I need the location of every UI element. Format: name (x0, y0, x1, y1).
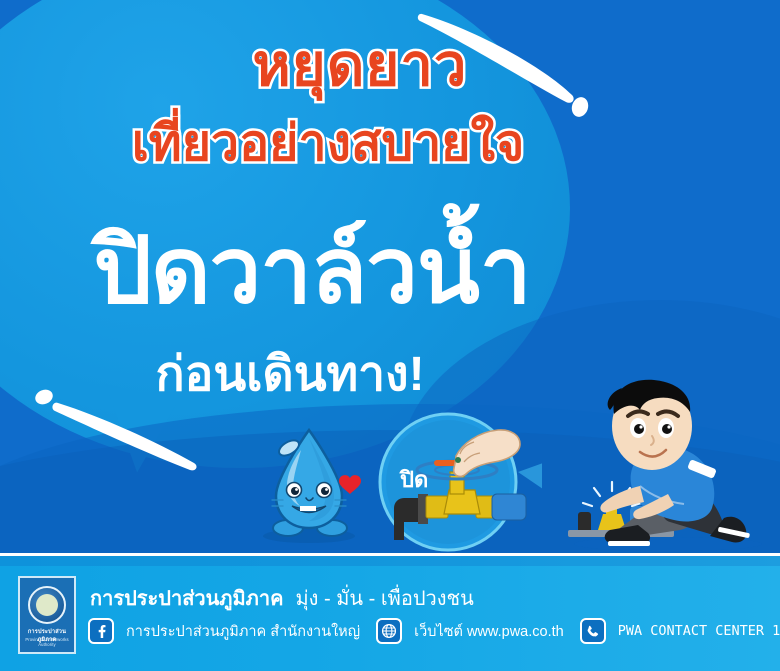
footer-bar: การประปาส่วนภูมิภาค Provincial Waterwork… (0, 553, 780, 671)
pwa-logo: การประปาส่วนภูมิภาค Provincial Waterwork… (18, 576, 76, 654)
magnifier-callout: ปิด (378, 410, 542, 553)
phone-icon[interactable] (580, 618, 606, 644)
footer-tagline: การประปาส่วนภูมิภาคมุ่ง - มั่น - เพื่อปว… (90, 582, 474, 614)
footer-organization: การประปาส่วนภูมิภาค (90, 588, 283, 610)
poster-artwork: หยุดยาว เที่ยวอย่างสบายใจ ปิดวาล์วน้ำ ก่… (0, 0, 780, 553)
magnifier-label: ปิด (400, 462, 428, 497)
water-drop-mascot (246, 424, 372, 544)
facebook-label: การประปาส่วนภูมิภาค สำนักงานใหญ่ (126, 620, 360, 643)
boy-illustration (548, 378, 780, 553)
footer-contact-row: การประปาส่วนภูมิภาค สำนักงานใหญ่ เว็บไซต… (88, 618, 780, 644)
pwa-logo-name-en: Provincial Waterworks Authority (20, 637, 74, 647)
headline-line-1: หยุดยาว (0, 18, 750, 111)
globe-icon[interactable] (376, 618, 402, 644)
pwa-logo-emblem-icon (28, 586, 66, 624)
poster-root: หยุดยาว เที่ยวอย่างสบายใจ ปิดวาล์วน้ำ ก่… (0, 0, 780, 671)
footer-slogan: มุ่ง - มั่น - เพื่อปวงชน (295, 588, 473, 610)
facebook-icon[interactable] (88, 618, 114, 644)
headline-line-3: ปิดวาล์วน้ำ (0, 196, 702, 343)
website-label: เว็บไซต์ www.pwa.co.th (414, 620, 564, 643)
headline-line-2: เที่ยวอย่างสบายใจ (0, 104, 718, 183)
contact-center-label: PWA CONTACT CENTER 1662 (618, 623, 780, 639)
